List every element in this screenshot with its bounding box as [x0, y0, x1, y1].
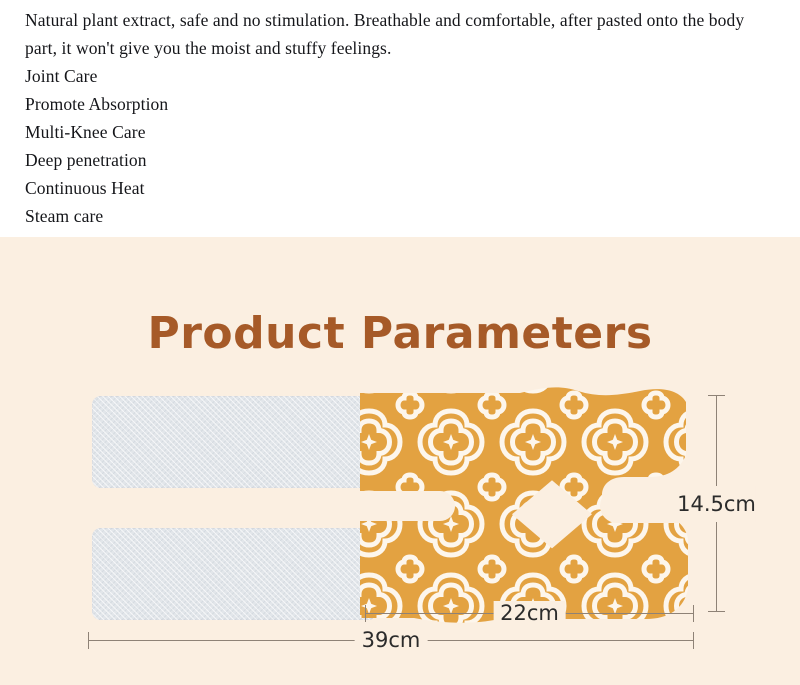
dimension-width-top: 22cm — [365, 613, 694, 614]
list-item: Promote Absorption — [25, 90, 775, 118]
description-paragraph: Natural plant extract, safe and no stimu… — [25, 6, 775, 62]
list-item: Multi-Knee Care — [25, 118, 775, 146]
product-diagram: 22cm 14.5cm 39cm — [0, 237, 800, 685]
knee-pad-svg — [0, 237, 800, 685]
knee-pad-body — [0, 237, 800, 685]
dimension-tick-bottom — [708, 611, 725, 612]
list-item: Steam care — [25, 202, 775, 230]
dimension-tick-top — [708, 395, 725, 396]
list-item: Continuous Heat — [25, 174, 775, 202]
product-description-section: Natural plant extract, safe and no stimu… — [0, 0, 800, 237]
dimension-label-14-5cm: 14.5cm — [677, 486, 756, 522]
list-item: Deep penetration — [25, 146, 775, 174]
left-notch — [330, 491, 455, 521]
dimension-tick-right — [693, 605, 694, 622]
dimension-tick-left — [88, 632, 89, 649]
dimension-label-22cm: 22cm — [493, 601, 566, 625]
product-parameters-section: Product Parameters — [0, 237, 800, 685]
list-item: Joint Care — [25, 62, 775, 90]
dimension-width-bottom: 39cm — [88, 640, 694, 641]
feature-list: Joint Care Promote Absorption Multi-Knee… — [25, 62, 775, 230]
dimension-tick-left — [365, 605, 366, 622]
dimension-height-right: 14.5cm — [716, 395, 717, 612]
dimension-label-39cm: 39cm — [355, 628, 428, 652]
dimension-tick-right — [693, 632, 694, 649]
